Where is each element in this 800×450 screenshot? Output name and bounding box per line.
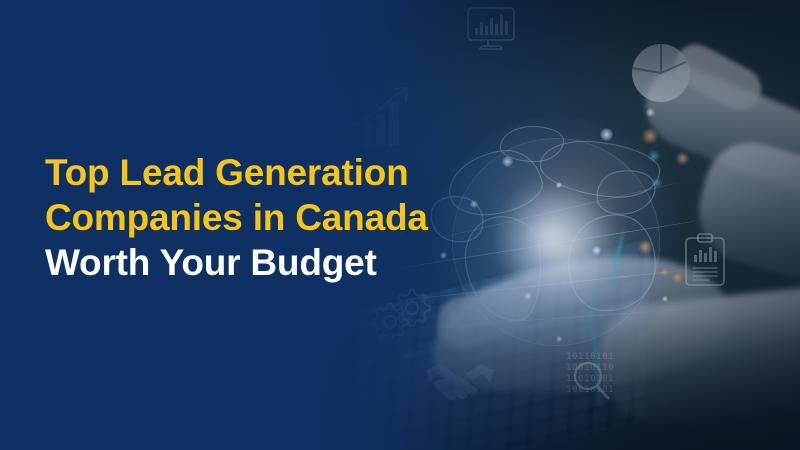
page-title: Top Lead Generation Companies in Canada … bbox=[45, 150, 475, 285]
headline-line-1: Top Lead Generation bbox=[45, 150, 475, 195]
headline-line-2: Companies in Canada bbox=[45, 195, 475, 240]
lead-generation-banner: 10110101 10010110 11010101 10010101 bbox=[0, 0, 800, 450]
headline-line-3: Worth Your Budget bbox=[45, 240, 475, 285]
